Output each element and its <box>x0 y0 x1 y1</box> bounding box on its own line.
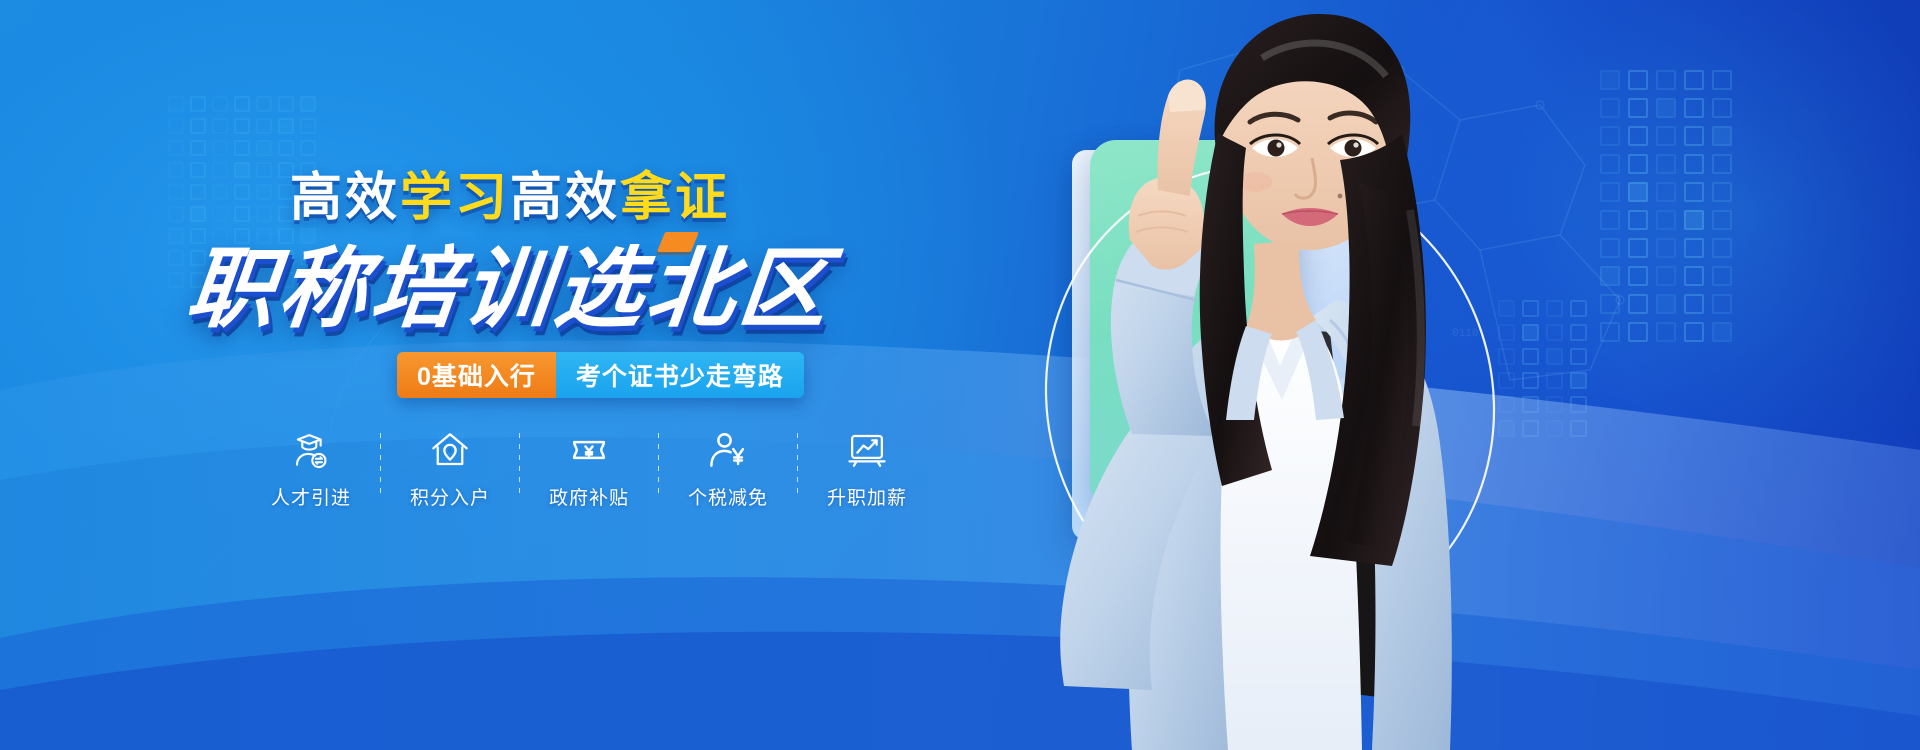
hero-figure-area <box>1010 0 1920 750</box>
feature-label: 升职加薪 <box>827 483 907 510</box>
voucher-yuan-icon <box>568 425 610 471</box>
feature-separator <box>658 433 659 493</box>
feature-separator <box>380 433 381 493</box>
tagline-badge-left: 0基础入行 <box>397 352 556 398</box>
graduate-person-icon <box>290 425 332 471</box>
tagline-badge: 0基础入行 考个证书少走弯路 <box>397 352 804 398</box>
growth-chart-icon <box>846 425 888 471</box>
headline-block: 高效学习高效拿证 职称培训选北区 0基础入行 考个证书少走弯路 <box>0 0 1020 750</box>
feature-item-tax[interactable]: 个税减免 <box>672 425 784 510</box>
feature-separator <box>797 433 798 493</box>
feature-label: 积分入户 <box>410 483 490 510</box>
feature-label: 个税减免 <box>688 483 768 510</box>
main-headline-text: 职称培训选北区 <box>181 218 838 345</box>
tagline-badge-right: 考个证书少走弯路 <box>556 352 804 398</box>
feature-item-subsidy[interactable]: 政府补贴 <box>533 425 645 510</box>
feature-separator <box>519 433 520 493</box>
feature-item-talent[interactable]: 人才引进 <box>255 425 367 510</box>
main-headline: 职称培训选北区 <box>0 218 1020 345</box>
feature-item-promotion[interactable]: 升职加薪 <box>811 425 923 510</box>
feature-list: 人才引进 积分入户 <box>255 425 923 510</box>
feature-label: 政府补贴 <box>549 483 629 510</box>
feature-label: 人才引进 <box>271 483 351 510</box>
feature-item-residency[interactable]: 积分入户 <box>394 425 506 510</box>
promo-banner: 2 39 01 10 1 0110 <box>0 0 1920 750</box>
house-pin-icon <box>429 425 471 471</box>
person-yuan-icon <box>707 425 749 471</box>
presenter-photo <box>1010 0 1920 750</box>
